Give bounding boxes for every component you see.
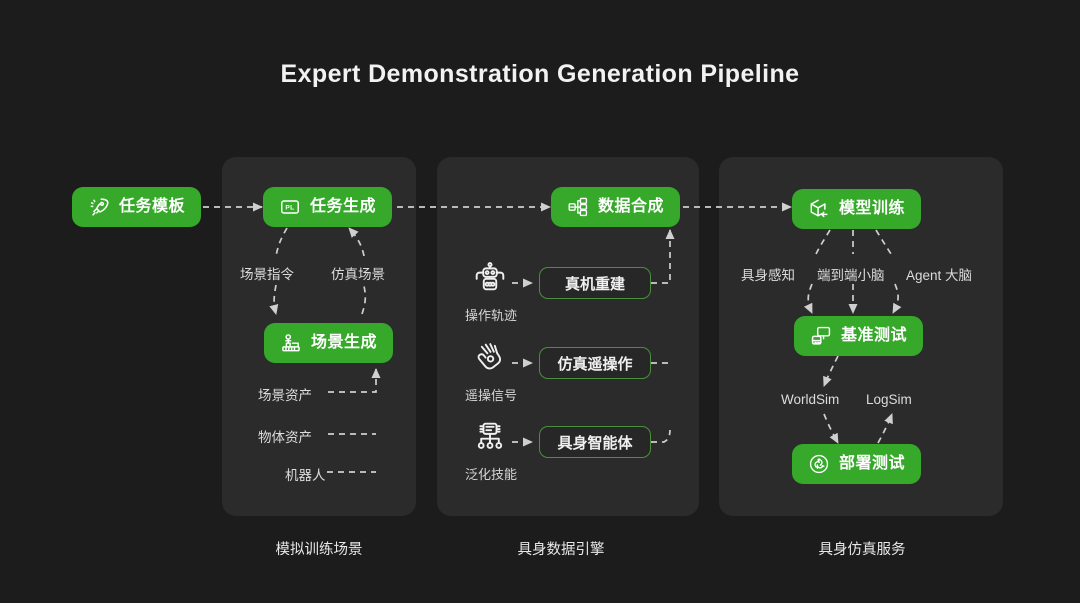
node-data-synthesis[interactable]: 数据合成 bbox=[551, 187, 680, 227]
glove-icon bbox=[473, 341, 507, 375]
svg-text:PL: PL bbox=[285, 204, 294, 211]
node-deployment-test[interactable]: 部署测试 bbox=[792, 444, 921, 484]
box-real-machine-reconstruction[interactable]: 真机重建 bbox=[539, 267, 651, 299]
panel-caption-embodied-data-engine: 具身数据引擎 bbox=[441, 538, 681, 559]
page-title: Expert Demonstration Generation Pipeline bbox=[0, 60, 1080, 89]
source-label-teleop-signal: 遥操信号 bbox=[465, 385, 517, 404]
pipeline-diagram: Expert Demonstration Generation Pipeline bbox=[0, 0, 1080, 603]
robot-icon bbox=[473, 261, 507, 295]
node-benchmark-test[interactable]: 基准测试 bbox=[794, 316, 923, 356]
node-task-template[interactable]: 任务模板 bbox=[72, 187, 201, 227]
source-label-generalized-skill: 泛化技能 bbox=[465, 464, 517, 483]
node-scene-generation[interactable]: 场景生成 bbox=[264, 323, 393, 363]
rocket-icon bbox=[88, 196, 110, 218]
box-simulated-teleoperation[interactable]: 仿真遥操作 bbox=[539, 347, 651, 379]
edge-label-worldsim: WorldSim bbox=[781, 392, 839, 407]
node-label: 任务生成 bbox=[310, 199, 376, 215]
node-label: 任务模板 bbox=[119, 199, 185, 215]
node-label: 基准测试 bbox=[841, 328, 907, 344]
edge-label-end-to-end-cerebellum: 端到端小脑 bbox=[817, 264, 885, 284]
input-label-scene-asset: 场景资产 bbox=[258, 384, 312, 404]
node-label: 模型训练 bbox=[839, 201, 905, 217]
node-label: 场景生成 bbox=[311, 335, 377, 351]
skill-network-icon bbox=[473, 420, 507, 454]
panel-caption-simulation-training-scene: 模拟训练场景 bbox=[199, 538, 439, 559]
panel-caption-embodied-simulation-service: 具身仿真服务 bbox=[742, 538, 982, 559]
node-model-training[interactable]: 模型训练 bbox=[792, 189, 921, 229]
node-label: 部署测试 bbox=[839, 456, 905, 472]
edge-label-logsim: LogSim bbox=[866, 392, 912, 407]
input-label-object-asset: 物体资产 bbox=[258, 426, 312, 446]
cube-train-icon bbox=[808, 198, 830, 220]
edge-label-embodied-perception: 具身感知 bbox=[741, 264, 795, 284]
data-sync-icon bbox=[567, 196, 589, 218]
node-task-generation[interactable]: PL 任务生成 bbox=[263, 187, 392, 227]
scene-robot-icon bbox=[280, 332, 302, 354]
edge-label-scene-instruction: 场景指令 bbox=[240, 263, 294, 283]
deploy-cycle-icon bbox=[808, 453, 830, 475]
edge-label-sim-scene: 仿真场景 bbox=[331, 263, 385, 283]
input-label-robot: 机器人 bbox=[285, 464, 326, 484]
pl-badge-icon: PL bbox=[279, 196, 301, 218]
edge-label-agent-brain: Agent 大脑 bbox=[906, 264, 972, 284]
benchmark-screen-icon bbox=[810, 325, 832, 347]
node-label: 数据合成 bbox=[598, 199, 664, 215]
box-embodied-agent[interactable]: 具身智能体 bbox=[539, 426, 651, 458]
source-label-operation-trajectory: 操作轨迹 bbox=[465, 305, 517, 324]
